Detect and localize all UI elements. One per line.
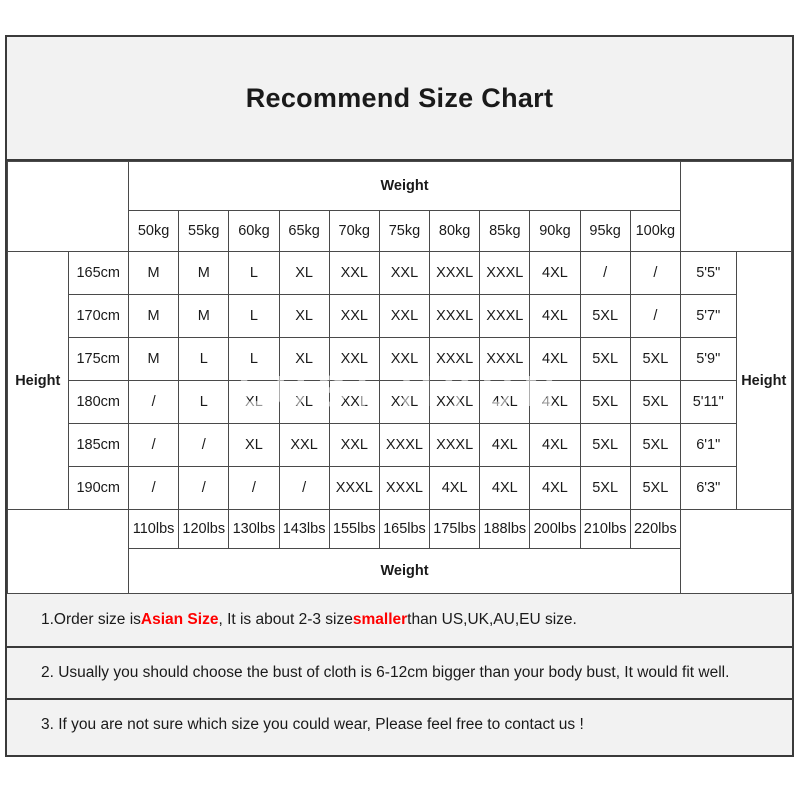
weight-lbs-header: 188lbs xyxy=(480,510,530,549)
size-cell[interactable]: 4XL xyxy=(530,467,580,510)
size-cell[interactable]: 5XL xyxy=(630,467,680,510)
size-cell[interactable]: 4XL xyxy=(480,467,530,510)
table-row: Height165cmMMLXLXXLXXLXXXLXXXL4XL//5'5"H… xyxy=(8,252,792,295)
note-2: 2. Usually you should choose the bust of… xyxy=(7,646,792,698)
size-cell[interactable]: XXXL xyxy=(430,381,480,424)
corner-blank-bottomright xyxy=(681,510,792,594)
weight-kg-header: 70kg xyxy=(329,211,379,252)
weight-lbs-header: 143lbs xyxy=(279,510,329,549)
size-chart-table: Weight50kg55kg60kg65kg70kg75kg80kg85kg90… xyxy=(7,161,792,594)
weight-kg-header: 75kg xyxy=(379,211,429,252)
note-text: 3. If you are not sure which size you co… xyxy=(41,716,584,734)
size-cell[interactable]: 4XL xyxy=(480,381,530,424)
size-cell[interactable]: XL xyxy=(229,381,279,424)
weight-lbs-header: 165lbs xyxy=(379,510,429,549)
size-cell[interactable]: M xyxy=(129,338,179,381)
size-cell[interactable]: / xyxy=(179,467,229,510)
height-ft-label: 5'7" xyxy=(681,295,737,338)
weight-lbs-header: 155lbs xyxy=(329,510,379,549)
weight-kg-header: 95kg xyxy=(580,211,630,252)
size-cell[interactable]: XL xyxy=(279,295,329,338)
size-cell[interactable]: 5XL xyxy=(580,338,630,381)
height-cm-label: 185cm xyxy=(68,424,129,467)
size-cell[interactable]: XXL xyxy=(379,252,429,295)
size-cell[interactable]: 5XL xyxy=(580,424,630,467)
size-cell[interactable]: M xyxy=(129,252,179,295)
size-cell[interactable]: L xyxy=(179,381,229,424)
size-cell[interactable]: 4XL xyxy=(430,467,480,510)
size-cell[interactable]: XXL xyxy=(279,424,329,467)
note-text: than US,UK,AU,EU size. xyxy=(407,611,577,629)
weight-kg-header: 80kg xyxy=(430,211,480,252)
note-1: 1.Order size is Asian Size, It is about … xyxy=(7,594,792,646)
page-title: Recommend Size Chart xyxy=(246,83,554,114)
size-cell[interactable]: 5XL xyxy=(630,424,680,467)
size-cell[interactable]: XXL xyxy=(329,381,379,424)
size-cell[interactable]: 4XL xyxy=(530,424,580,467)
table-row: 175cmMLLXLXXLXXLXXXLXXXL4XL5XL5XL5'9" xyxy=(8,338,792,381)
size-cell[interactable]: XL xyxy=(229,424,279,467)
weight-lbs-header: 220lbs xyxy=(630,510,680,549)
size-cell[interactable]: / xyxy=(630,295,680,338)
weight-lbs-header: 200lbs xyxy=(530,510,580,549)
size-cell[interactable]: / xyxy=(129,381,179,424)
weight-lbs-header: 175lbs xyxy=(430,510,480,549)
size-cell[interactable]: M xyxy=(129,295,179,338)
weight-lbs-header: 130lbs xyxy=(229,510,279,549)
table-row: 170cmMMLXLXXLXXLXXXLXXXL4XL5XL/5'7" xyxy=(8,295,792,338)
note-highlight-text: smaller xyxy=(353,611,407,629)
header-row-weight: Weight xyxy=(8,162,792,211)
table-row: 185cm//XLXXLXXLXXXLXXXL4XL4XL5XL5XL6'1" xyxy=(8,424,792,467)
weight-kg-header: 55kg xyxy=(179,211,229,252)
size-cell[interactable]: / xyxy=(129,467,179,510)
size-cell[interactable]: M xyxy=(179,295,229,338)
weight-axis-label-top: Weight xyxy=(129,162,681,211)
size-cell[interactable]: XXL xyxy=(379,295,429,338)
height-cm-label: 190cm xyxy=(68,467,129,510)
height-cm-label: 170cm xyxy=(68,295,129,338)
size-cell[interactable]: XXXL xyxy=(480,252,530,295)
weight-kg-header: 50kg xyxy=(129,211,179,252)
size-cell[interactable]: XL xyxy=(279,252,329,295)
height-ft-label: 5'5" xyxy=(681,252,737,295)
corner-blank-topright xyxy=(681,162,792,252)
height-cm-label: 165cm xyxy=(68,252,129,295)
size-cell[interactable]: XXL xyxy=(379,381,429,424)
size-cell[interactable]: XXXL xyxy=(480,295,530,338)
size-cell[interactable]: XXXL xyxy=(430,252,480,295)
size-cell[interactable]: 5XL xyxy=(630,381,680,424)
size-cell[interactable]: XXL xyxy=(329,252,379,295)
note-3: 3. If you are not sure which size you co… xyxy=(7,698,792,750)
weight-kg-header: 90kg xyxy=(530,211,580,252)
size-cell[interactable]: 4XL xyxy=(530,381,580,424)
size-chart-container: Recommend Size Chart LUSI HYUN Weight50k… xyxy=(5,35,794,757)
size-cell[interactable]: XXXL xyxy=(430,295,480,338)
size-cell[interactable]: 5XL xyxy=(630,338,680,381)
size-cell[interactable]: M xyxy=(179,252,229,295)
size-cell[interactable]: / xyxy=(229,467,279,510)
size-cell[interactable]: XXL xyxy=(329,338,379,381)
size-cell[interactable]: XXXL xyxy=(430,338,480,381)
size-cell[interactable]: 4XL xyxy=(530,252,580,295)
size-cell[interactable]: / xyxy=(129,424,179,467)
corner-blank-bottomleft xyxy=(8,510,129,594)
footer-row-lbs: 110lbs120lbs130lbs143lbs155lbs165lbs175l… xyxy=(8,510,792,549)
height-ft-label: 6'3" xyxy=(681,467,737,510)
height-axis-label-right: Height xyxy=(736,252,792,510)
size-cell[interactable]: XXL xyxy=(379,338,429,381)
corner-blank-topleft xyxy=(8,162,129,252)
weight-lbs-header: 210lbs xyxy=(580,510,630,549)
height-cm-label: 180cm xyxy=(68,381,129,424)
weight-lbs-header: 110lbs xyxy=(129,510,179,549)
size-cell[interactable]: XXL xyxy=(329,424,379,467)
size-cell[interactable]: 4XL xyxy=(480,424,530,467)
note-highlight-text: Asian Size xyxy=(141,611,219,629)
weight-axis-label-bottom: Weight xyxy=(129,549,681,594)
weight-lbs-header: 120lbs xyxy=(179,510,229,549)
size-cell[interactable]: L xyxy=(229,252,279,295)
size-cell[interactable]: XL xyxy=(279,381,329,424)
notes-section: 1.Order size is Asian Size, It is about … xyxy=(7,594,792,750)
note-text: 2. Usually you should choose the bust of… xyxy=(41,664,729,682)
size-cell[interactable]: L xyxy=(229,338,279,381)
size-cell[interactable]: XXL xyxy=(329,295,379,338)
size-cell[interactable]: XXXL xyxy=(329,467,379,510)
size-cell[interactable]: XXXL xyxy=(379,467,429,510)
height-ft-label: 5'11" xyxy=(681,381,737,424)
size-cell[interactable]: / xyxy=(179,424,229,467)
height-ft-label: 6'1" xyxy=(681,424,737,467)
height-axis-label-left: Height xyxy=(8,252,69,510)
weight-kg-header: 65kg xyxy=(279,211,329,252)
weight-kg-header: 100kg xyxy=(630,211,680,252)
size-cell[interactable]: 4XL xyxy=(530,295,580,338)
size-cell[interactable]: XXXL xyxy=(480,338,530,381)
size-chart-body: Weight50kg55kg60kg65kg70kg75kg80kg85kg90… xyxy=(8,162,792,594)
size-cell[interactable]: / xyxy=(279,467,329,510)
size-cell[interactable]: XXXL xyxy=(430,424,480,467)
size-cell[interactable]: / xyxy=(580,252,630,295)
table-row: 190cm////XXXLXXXL4XL4XL4XL5XL5XL6'3" xyxy=(8,467,792,510)
size-cell[interactable]: XXXL xyxy=(379,424,429,467)
note-text: , It is about 2-3 size xyxy=(218,611,352,629)
note-text: 1.Order size is xyxy=(41,611,141,629)
weight-kg-header: 60kg xyxy=(229,211,279,252)
weight-kg-header: 85kg xyxy=(480,211,530,252)
table-row: 180cm/LXLXLXXLXXLXXXL4XL4XL5XL5XL5'11" xyxy=(8,381,792,424)
size-cell[interactable]: 5XL xyxy=(580,381,630,424)
height-cm-label: 175cm xyxy=(68,338,129,381)
size-cell[interactable]: 4XL xyxy=(530,338,580,381)
size-cell[interactable]: XL xyxy=(279,338,329,381)
size-cell[interactable]: L xyxy=(179,338,229,381)
size-cell[interactable]: 5XL xyxy=(580,295,630,338)
height-ft-label: 5'9" xyxy=(681,338,737,381)
title-band: Recommend Size Chart xyxy=(7,37,792,161)
size-cell[interactable]: / xyxy=(630,252,680,295)
size-cell[interactable]: L xyxy=(229,295,279,338)
size-cell[interactable]: 5XL xyxy=(580,467,630,510)
